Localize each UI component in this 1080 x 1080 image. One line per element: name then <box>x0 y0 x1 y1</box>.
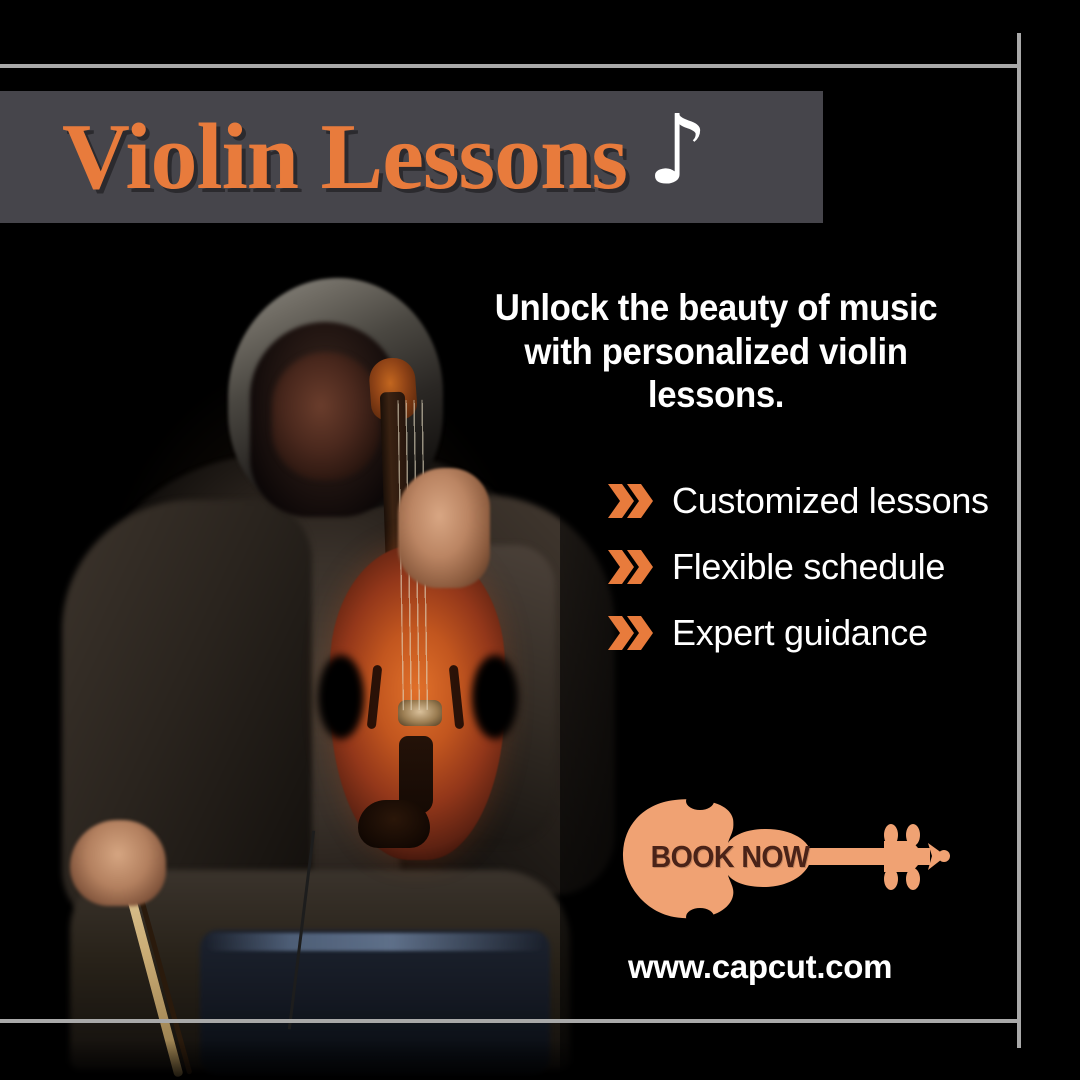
benefit-label: Expert guidance <box>672 612 928 654</box>
performer-hand-bow <box>70 820 166 906</box>
page-title: Violin Lessons <box>62 110 627 204</box>
frame-line-bottom <box>0 1019 1021 1023</box>
frame-line-top <box>0 64 1021 68</box>
music-note-icon: ♪ <box>647 102 708 198</box>
website-url[interactable]: www.capcut.com <box>628 948 892 986</box>
performer-face <box>272 352 380 480</box>
book-now-button[interactable]: BOOK NOW <box>612 795 962 925</box>
double-chevron-right-icon <box>606 547 656 587</box>
violin-waist-right <box>472 655 518 739</box>
title-band: Violin Lessons ♪ <box>0 91 823 223</box>
violin-waist-left <box>318 655 364 739</box>
benefit-label: Flexible schedule <box>672 546 945 588</box>
violin-button-shape <box>612 795 962 925</box>
benefits-list: Customized lessons Flexible schedule Exp… <box>606 468 1006 666</box>
double-chevron-right-icon <box>606 613 656 653</box>
benefit-label: Customized lessons <box>672 480 989 522</box>
violin-chinrest <box>358 800 430 848</box>
performer-hand-fingerboard <box>398 468 490 588</box>
benefit-item-3: Expert guidance <box>606 600 1006 666</box>
subtitle-text: Unlock the beauty of music with personal… <box>485 286 947 417</box>
frame-line-right <box>1017 33 1021 1048</box>
poster-canvas: Violin Lessons ♪ Unlock the beauty of mu… <box>0 0 1080 1080</box>
benefit-item-2: Flexible schedule <box>606 534 1006 600</box>
bottom-vignette <box>0 1040 1080 1080</box>
stool-rim <box>205 933 545 951</box>
benefit-item-1: Customized lessons <box>606 468 1006 534</box>
double-chevron-right-icon <box>606 481 656 521</box>
